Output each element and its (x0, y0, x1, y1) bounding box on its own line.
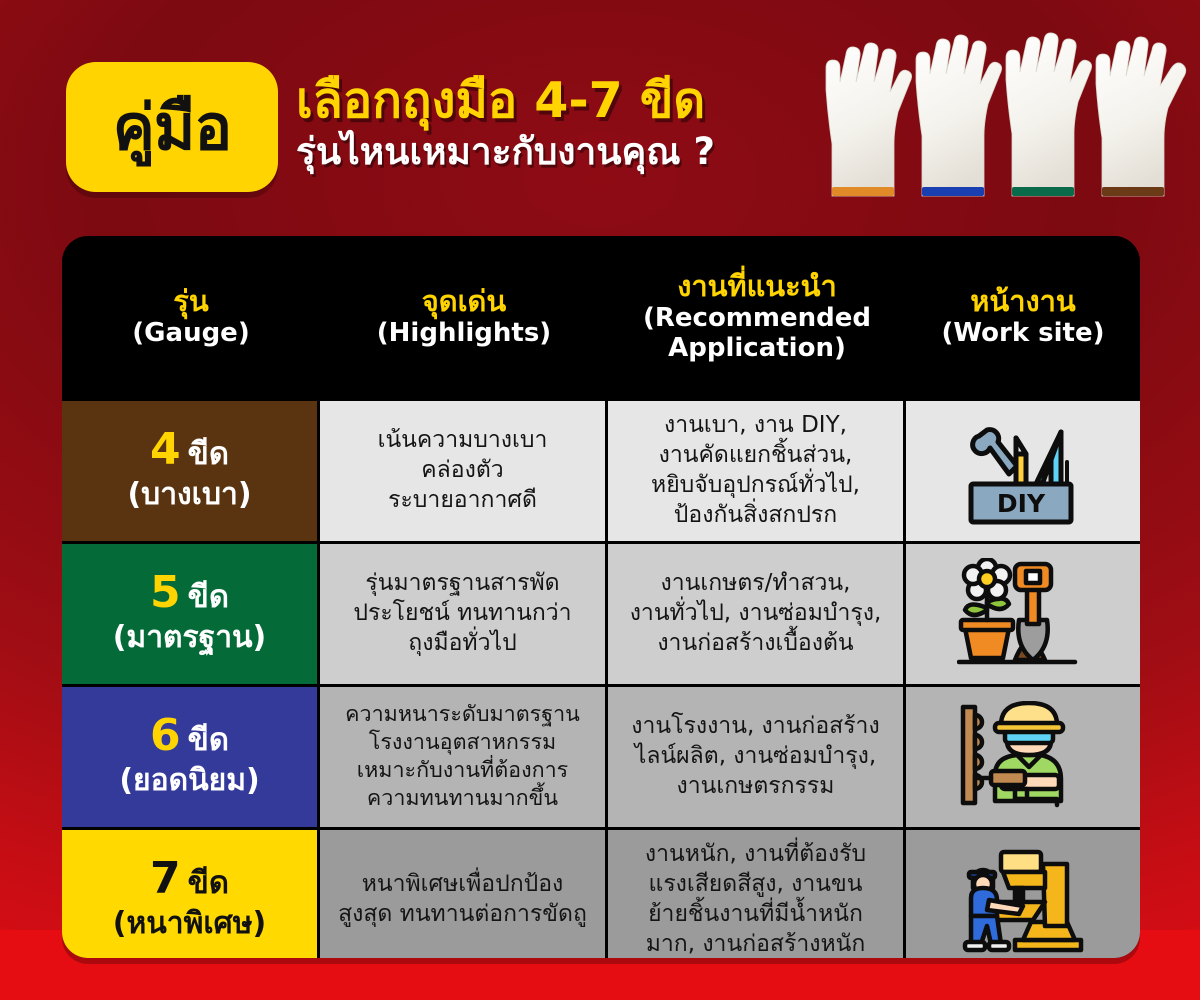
gauge-unit: ขีด (188, 582, 229, 613)
headline: เลือกถุงมือ 4-7 ขีด รุ่นไหนเหมาะกับงานคุ… (296, 74, 826, 174)
gauge-unit: ขีด (188, 725, 229, 756)
application-text: งานหนัก, งานที่ต้องรับ แรงเสียดสีสูง, งา… (645, 840, 866, 958)
highlights-text: หนาพิเศษเพื่อปกป้อง สูงสุด ทนทานต่อการขั… (338, 870, 587, 930)
column-header-worksite-en: (Work site) (942, 319, 1105, 349)
column-header-application-th: งานที่แนะนำ (677, 270, 837, 303)
table-row: 4 ขีด (บางเบา) เน้นความบางเบา คล่องตัว ร… (62, 398, 1140, 541)
gauge-cell-5: 5 ขีด (มาตรฐาน) (62, 544, 320, 684)
worksite-cell (906, 687, 1140, 827)
worksite-cell (906, 830, 1140, 958)
highlights-cell: ความหนาระดับมาตรฐาน โรงงานอุตสาหกรรม เหม… (320, 687, 608, 827)
table-row: 5 ขีด (มาตรฐาน) รุ่นมาตรฐานสารพัด ประโยช… (62, 541, 1140, 684)
application-text: งานเบา, งาน DIY, งานคัดแยกชิ้นส่วน, หยิบ… (651, 411, 860, 531)
application-cell: งานหนัก, งานที่ต้องรับ แรงเสียดสีสูง, งา… (608, 830, 906, 958)
gauge-comparison-table: รุ่น (Gauge) จุดเด่น (Highlights) งานที่… (62, 236, 1140, 958)
table-header-row: รุ่น (Gauge) จุดเด่น (Highlights) งานที่… (62, 236, 1140, 398)
gloves-illustration (812, 8, 1194, 230)
column-header-gauge: รุ่น (Gauge) (62, 236, 320, 398)
worksite-cell (906, 544, 1140, 684)
gauge-number: 7 (150, 857, 181, 901)
column-header-gauge-en: (Gauge) (132, 319, 249, 349)
highlights-cell: หนาพิเศษเพื่อปกป้อง สูงสุด ทนทานต่อการขั… (320, 830, 608, 958)
gauge-subtitle: (หนาพิเศษ) (113, 905, 266, 943)
gauge-number: 4 (150, 428, 181, 472)
column-header-worksite-th: หน้างาน (970, 285, 1076, 318)
worksite-cell: DIY (906, 401, 1140, 541)
highlights-text: เน้นความบางเบา คล่องตัว ระบายอากาศดี (378, 426, 548, 516)
gauge-cell-4: 4 ขีด (บางเบา) (62, 401, 320, 541)
application-cell: งานเกษตร/ทำสวน, งานทั่วไป, งานซ่อมบำรุง,… (608, 544, 906, 684)
table-row: 6 ขีด (ยอดนิยม) ความหนาระดับมาตรฐาน โรงง… (62, 684, 1140, 827)
gloves-photo (812, 8, 1194, 230)
guide-badge-label: คู่มือ (113, 96, 232, 159)
highlights-cell: เน้นความบางเบา คล่องตัว ระบายอากาศดี (320, 401, 608, 541)
gauge-cell-7: 7 ขีด (หนาพิเศษ) (62, 830, 320, 958)
headline-line-2: รุ่นไหนเหมาะกับงานคุณ ? (296, 130, 826, 174)
column-header-application-en: (Recommended Application) (643, 304, 871, 364)
application-cell: งานเบา, งาน DIY, งานคัดแยกชิ้นส่วน, หยิบ… (608, 401, 906, 541)
headline-line-1: เลือกถุงมือ 4-7 ขีด (296, 74, 826, 128)
gauge-unit: ขีด (188, 868, 229, 899)
column-header-highlights: จุดเด่น (Highlights) (320, 236, 608, 398)
application-text: งานโรงงาน, งานก่อสร้าง ไลน์ผลิต, งานซ่อม… (631, 712, 879, 802)
table-row: 7 ขีด (หนาพิเศษ) หนาพิเศษเพื่อปกป้อง สูง… (62, 827, 1140, 958)
gauge-unit: ขีด (188, 439, 229, 470)
guide-badge: คู่มือ (66, 62, 278, 192)
infographic-stage: คู่มือ เลือกถุงมือ 4-7 ขีด รุ่นไหนเหมาะก… (0, 0, 1200, 1000)
header-banner: คู่มือ เลือกถุงมือ 4-7 ขีด รุ่นไหนเหมาะก… (0, 0, 1200, 238)
gauge-number: 6 (150, 714, 181, 758)
application-cell: งานโรงงาน, งานก่อสร้าง ไลน์ผลิต, งานซ่อม… (608, 687, 906, 827)
highlights-text: ความหนาระดับมาตรฐาน โรงงานอุตสาหกรรม เหม… (345, 701, 580, 813)
gauge-subtitle: (ยอดนิยม) (119, 762, 259, 800)
svg-text:DIY: DIY (997, 489, 1046, 518)
gardening-flowerpot-shovel-icon (957, 558, 1089, 670)
column-header-application: งานที่แนะนำ (Recommended Application) (608, 236, 906, 398)
column-header-highlights-th: จุดเด่น (422, 285, 506, 318)
column-header-gauge-th: รุ่น (173, 285, 208, 318)
table-body: 4 ขีด (บางเบา) เน้นความบางเบา คล่องตัว ร… (62, 398, 1140, 958)
column-header-highlights-en: (Highlights) (377, 319, 551, 349)
gauge-cell-6: 6 ขีด (ยอดนิยม) (62, 687, 320, 827)
gauge-subtitle: (บางเบา) (127, 476, 251, 514)
gauge-number: 5 (150, 571, 181, 615)
highlights-cell: รุ่นมาตรฐานสารพัด ประโยชน์ ทนทานกว่า ถุง… (320, 544, 608, 684)
column-header-worksite: หน้างาน (Work site) (906, 236, 1140, 398)
diy-toolbox-icon: DIY (957, 416, 1089, 526)
application-text: งานเกษตร/ทำสวน, งานทั่วไป, งานซ่อมบำรุง,… (630, 569, 882, 659)
gauge-subtitle: (มาตรฐาน) (113, 619, 267, 657)
highlights-text: รุ่นมาตรฐานสารพัด ประโยชน์ ทนทานกว่า ถุง… (353, 569, 571, 659)
heavy-machinery-operator-icon (957, 844, 1089, 956)
factory-worker-drill-icon (957, 701, 1089, 813)
